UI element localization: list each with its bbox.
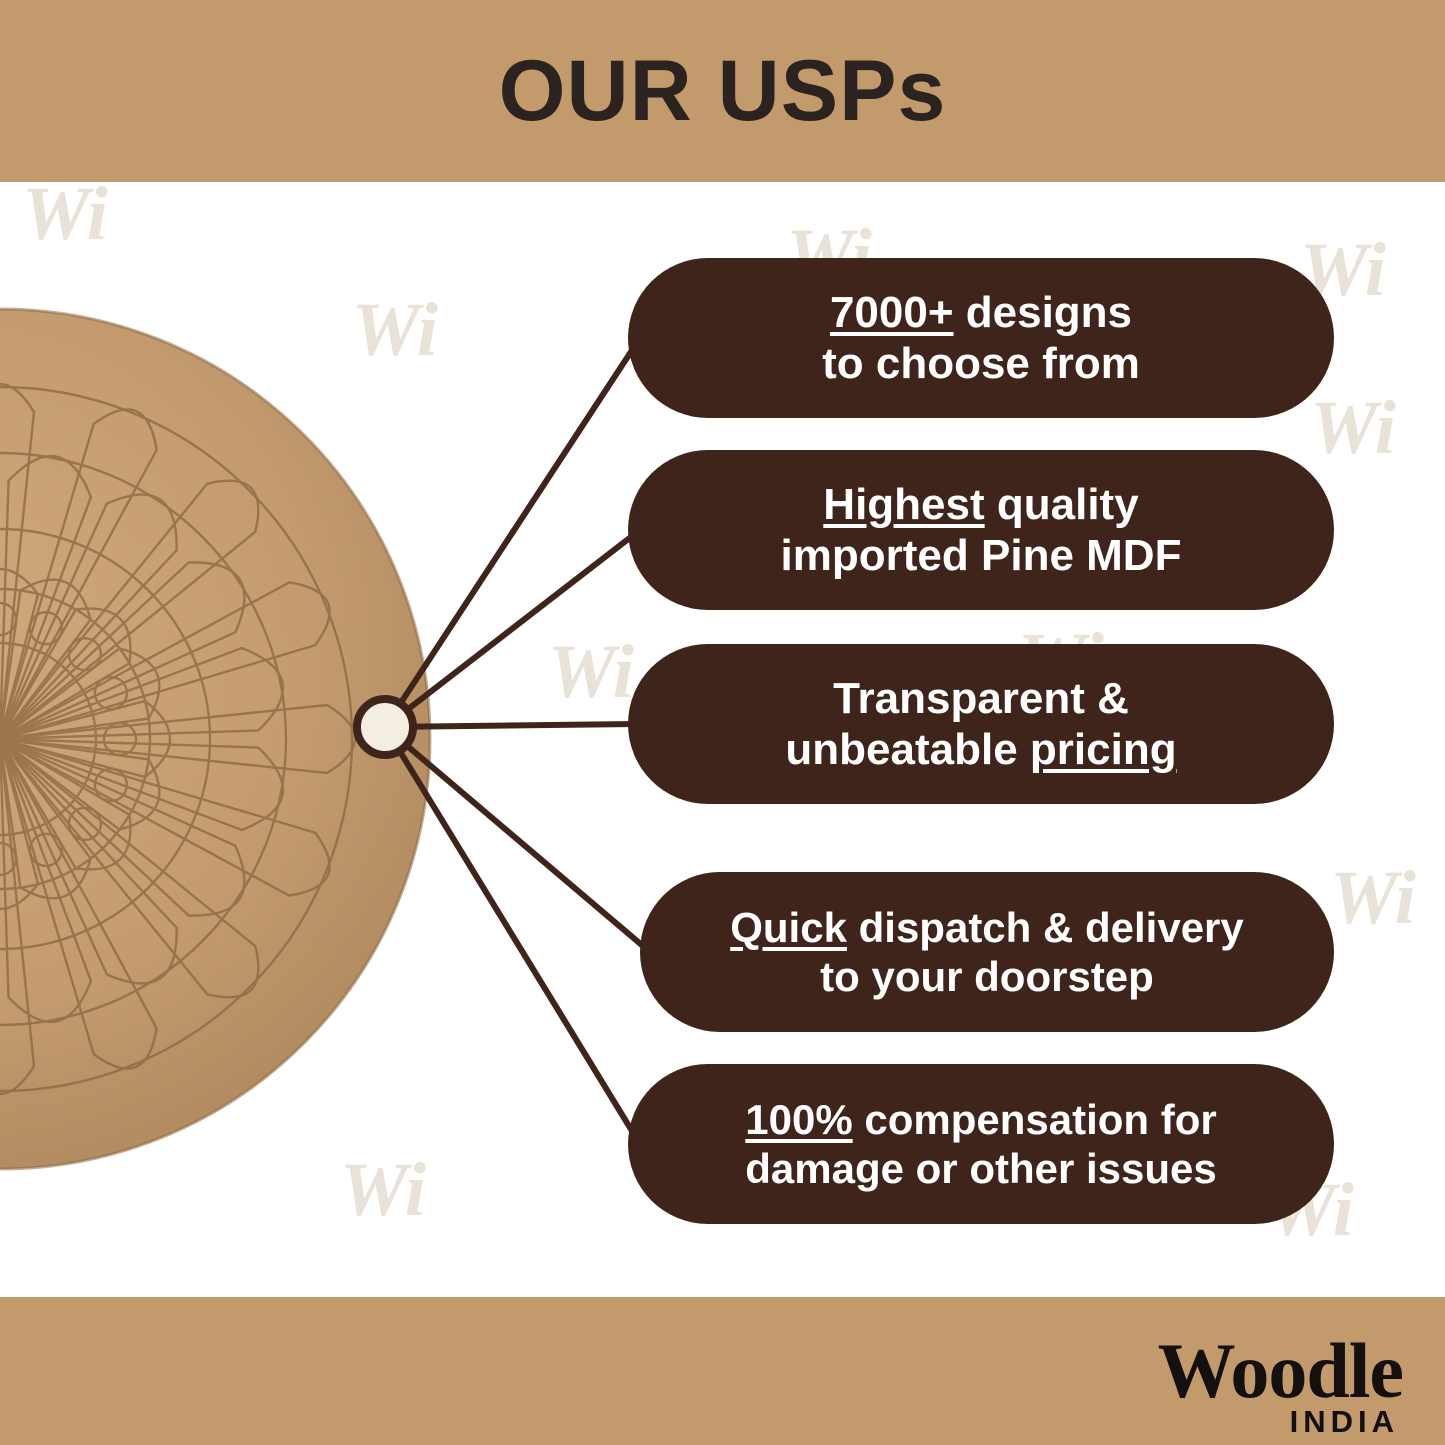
usp-card-dispatch[interactable]: Quick dispatch & delivery to your doorst…	[640, 872, 1334, 1032]
usp-line-1: Transparent &	[833, 673, 1129, 724]
brand-logo: Woodle INDIA	[1158, 1332, 1403, 1437]
usp-card-pricing[interactable]: Transparent & unbeatable pricing	[628, 644, 1334, 804]
header-band: OUR USPs	[0, 0, 1445, 182]
usp-line-2: to choose from	[822, 338, 1140, 389]
usp-line-1: Quick dispatch & delivery	[730, 903, 1244, 952]
page-title: OUR USPs	[0, 0, 1445, 182]
footer-band: Woodle INDIA	[0, 1297, 1445, 1445]
usp-line-2: to your doorstep	[820, 952, 1154, 1001]
usp-line-2: damage or other issues	[745, 1144, 1217, 1193]
usp-card-compensation[interactable]: 100% compensation for damage or other is…	[628, 1064, 1334, 1224]
diagram-canvas: Wi Wi Wi Wi Wi Wi Wi Wi Wi Wi	[0, 182, 1445, 1297]
usp-card-designs[interactable]: 7000+ designs to choose from	[628, 258, 1334, 418]
usp-infographic: OUR USPs Wi Wi Wi Wi Wi Wi Wi Wi Wi Wi	[0, 0, 1445, 1445]
usp-card-quality[interactable]: Highest quality imported Pine MDF	[628, 450, 1334, 610]
usp-line-1: 7000+ designs	[830, 287, 1132, 338]
usp-line-1: Highest quality	[823, 479, 1138, 530]
hub-node	[357, 699, 413, 755]
brand-name: Woodle	[1158, 1332, 1403, 1410]
usp-line-2: imported Pine MDF	[781, 530, 1182, 581]
usp-line-1: 100% compensation for	[745, 1095, 1216, 1144]
usp-line-2: unbeatable pricing	[785, 724, 1176, 775]
